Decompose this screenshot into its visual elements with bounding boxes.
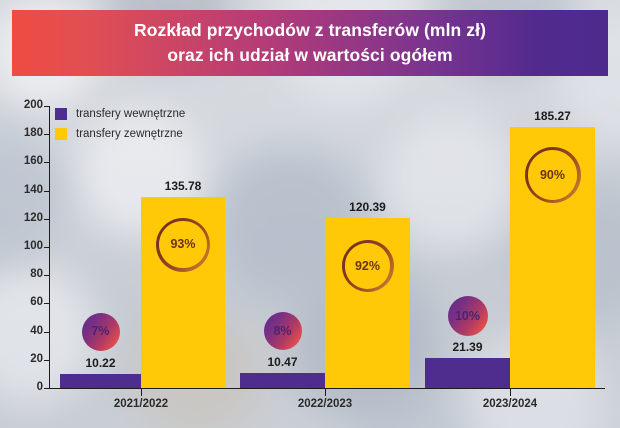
percentage-ring-label: 7% bbox=[91, 325, 109, 338]
legend-label-inner: transfery wewnętrzne bbox=[76, 108, 185, 120]
y-axis-tick bbox=[44, 191, 50, 192]
bar-value-label: 10.47 bbox=[267, 355, 297, 369]
y-axis-tick bbox=[44, 106, 50, 107]
bar-value-label: 10.22 bbox=[85, 356, 115, 370]
percentage-ring-label: 90% bbox=[540, 169, 565, 182]
y-axis-tick-label: 40 bbox=[5, 325, 43, 337]
legend-label-outer: transfery zewnętrzne bbox=[76, 128, 183, 140]
y-axis-tick-label: 0 bbox=[5, 381, 43, 393]
percentage-ring-label: 93% bbox=[170, 238, 195, 251]
y-axis-tick bbox=[44, 275, 50, 276]
x-axis-tick bbox=[141, 389, 142, 396]
y-axis-tick bbox=[44, 332, 50, 333]
percentage-ring-hole: 90% bbox=[528, 150, 578, 200]
bar-value-label: 135.78 bbox=[165, 179, 202, 193]
bar-value-label: 120.39 bbox=[349, 200, 386, 214]
percentage-ring-hole: 8% bbox=[267, 315, 299, 347]
percentage-ring: 8% bbox=[264, 312, 302, 350]
percentage-ring: 90% bbox=[525, 147, 581, 203]
y-axis-tick-label: 200 bbox=[5, 99, 43, 111]
chart-title-line-1: Rozkład przychodów z transferów (mln zł) bbox=[134, 18, 486, 43]
y-axis-tick bbox=[44, 162, 50, 163]
percentage-ring-hole: 92% bbox=[345, 243, 391, 289]
legend-item-outer: transfery zewnętrzne bbox=[55, 124, 185, 144]
bar-inner bbox=[60, 374, 141, 388]
percentage-ring: 93% bbox=[156, 218, 210, 272]
chart-title-line-2: oraz ich udział w wartości ogółem bbox=[167, 43, 452, 68]
title-banner: Rozkład przychodów z transferów (mln zł)… bbox=[12, 10, 608, 76]
bar-value-label: 21.39 bbox=[452, 340, 482, 354]
percentage-ring-hole: 10% bbox=[451, 299, 485, 333]
x-axis-category-label: 2023/2024 bbox=[483, 398, 537, 410]
chart-infographic: Rozkład przychodów z transferów (mln zł)… bbox=[0, 0, 620, 428]
y-axis-tick bbox=[44, 360, 50, 361]
y-axis-tick bbox=[44, 303, 50, 304]
legend-swatch-outer bbox=[55, 128, 67, 140]
percentage-ring-hole: 93% bbox=[159, 221, 207, 269]
percentage-ring-label: 92% bbox=[355, 260, 380, 273]
y-axis-tick bbox=[44, 219, 50, 220]
x-axis-tick bbox=[325, 389, 326, 396]
plot-area: 020406080100120140160180200 10.227%10.47… bbox=[0, 76, 620, 428]
percentage-ring-hole: 7% bbox=[85, 316, 117, 348]
x-axis-category-label: 2021/2022 bbox=[114, 398, 168, 410]
y-axis-tick-label: 120 bbox=[5, 212, 43, 224]
legend-item-inner: transfery wewnętrzne bbox=[55, 104, 185, 124]
y-axis-tick-label: 100 bbox=[5, 240, 43, 252]
y-axis-tick-label: 60 bbox=[5, 296, 43, 308]
y-axis-tick-label: 160 bbox=[5, 155, 43, 167]
bar-value-label: 185.27 bbox=[534, 109, 571, 123]
x-axis-category-label: 2022/2023 bbox=[298, 398, 352, 410]
y-axis-labels: 020406080100120140160180200 bbox=[0, 76, 43, 428]
y-axis-tick-label: 20 bbox=[5, 353, 43, 365]
percentage-ring: 7% bbox=[82, 313, 120, 351]
y-axis-tick-label: 180 bbox=[5, 127, 43, 139]
percentage-ring: 10% bbox=[448, 296, 488, 336]
percentage-ring: 92% bbox=[342, 240, 394, 292]
percentage-ring-label: 10% bbox=[455, 310, 480, 323]
y-axis-tick bbox=[44, 134, 50, 135]
y-axis-tick bbox=[44, 247, 50, 248]
y-axis-tick-label: 140 bbox=[5, 184, 43, 196]
x-axis-tick bbox=[510, 389, 511, 396]
bar-inner bbox=[425, 358, 510, 388]
y-axis-tick-label: 80 bbox=[5, 268, 43, 280]
legend: transfery wewnętrzne transfery zewnętrzn… bbox=[55, 104, 185, 144]
legend-swatch-inner bbox=[55, 108, 67, 120]
bar-inner bbox=[240, 373, 325, 388]
x-axis-line bbox=[49, 388, 605, 389]
percentage-ring-label: 8% bbox=[273, 325, 291, 338]
